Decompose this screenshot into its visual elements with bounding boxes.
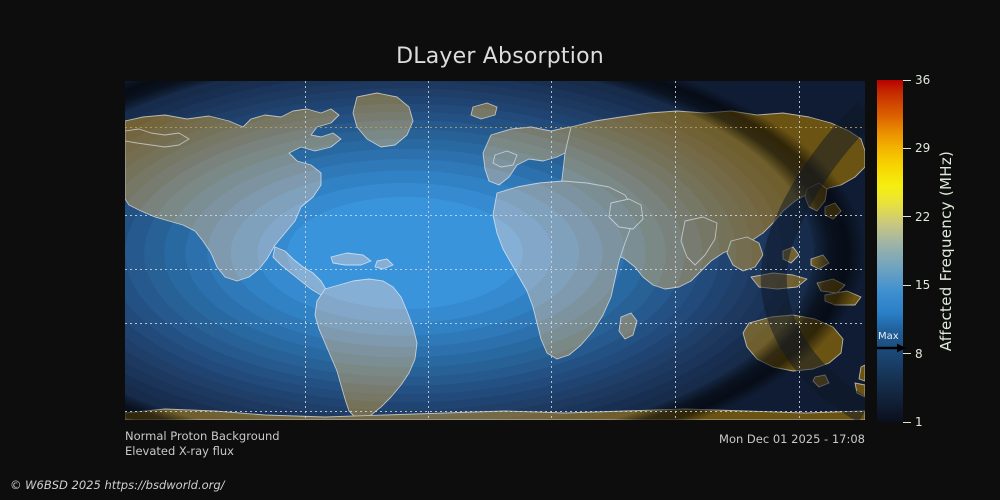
gridline-lon [428,81,429,420]
gridline-lon [799,81,800,420]
max-marker: Max [877,332,911,354]
page-title: DLayer Absorption [0,44,1000,69]
colorbar-tick-label: 29 [915,142,930,154]
arrow-right-icon [877,343,907,353]
colorbar-tick-label: 8 [915,348,923,360]
colorbar-tick-label: 36 [915,74,930,86]
gridline-lat [125,411,865,412]
max-marker-label: Max [878,331,899,342]
graticule [125,81,865,420]
world-map[interactable] [125,81,865,420]
xray-status: Elevated X-ray flux [125,444,280,459]
tick-dash-icon [903,422,911,423]
proton-status: Normal Proton Background [125,429,280,444]
colorbar-tick: 22 [903,211,930,223]
tick-dash-icon [903,80,911,81]
gridline-lat [125,215,865,216]
colorbar-tick: 15 [903,279,930,291]
gridline-lon [675,81,676,420]
tick-dash-icon [903,285,911,286]
gridline-lon [305,81,306,420]
gridline-lon [551,81,552,420]
tick-dash-icon [903,216,911,217]
status-block: Normal Proton Background Elevated X-ray … [125,429,280,459]
gridline-lat [125,127,865,128]
colorbar[interactable]: 36 29 22 15 8 1 [877,80,903,422]
colorbar-axis-label: Affected Frequency (MHz) [933,80,959,422]
colorbar-tick: 29 [903,142,930,154]
colorbar-tick-label: 22 [915,211,930,223]
colorbar-tick-label: 1 [915,416,923,428]
footer-credit: © W6BSD 2025 https://bsdworld.org/ [10,478,225,492]
gridline-lat [125,269,865,270]
colorbar-tick: 36 [903,74,930,86]
colorbar-tick-label: 15 [915,279,930,291]
tick-dash-icon [903,148,911,149]
gridline-lat [125,323,865,324]
colorbar-tick: 1 [903,416,923,428]
chart-canvas: DLayer Absorption [0,0,1000,500]
colorbar-gradient [877,80,903,422]
timestamp: Mon Dec 01 2025 - 17:08 [600,432,865,446]
